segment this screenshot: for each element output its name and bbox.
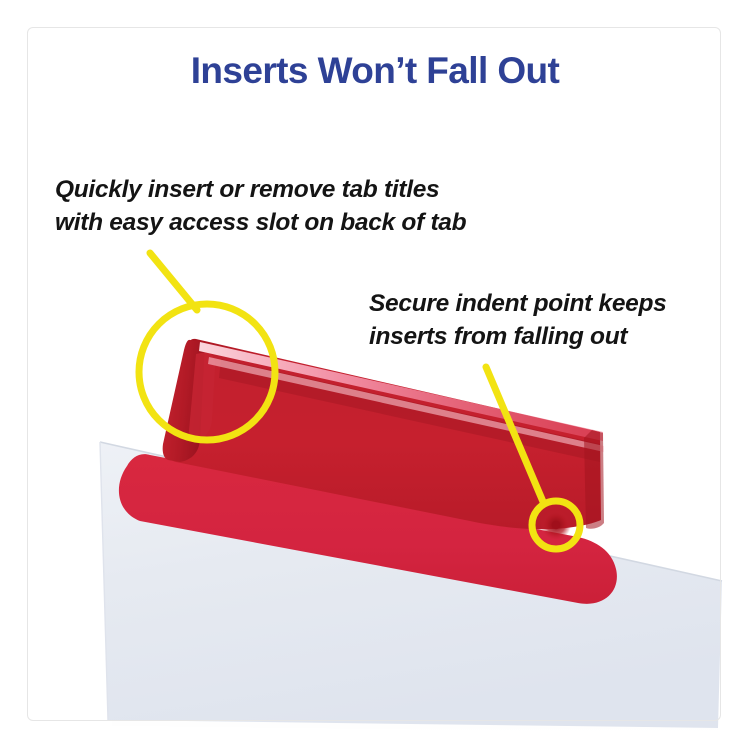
right-annotation-circle	[532, 501, 580, 549]
callout-easy-access-slot-line1: Quickly insert or remove tab titles	[55, 174, 466, 207]
left-annotation-circle	[139, 304, 275, 440]
annotation-overlay	[0, 0, 750, 750]
callout-easy-access-slot-line2: with easy access slot on back of tab	[55, 207, 466, 240]
callout-easy-access-slot: Quickly insert or remove tab titles with…	[55, 174, 466, 239]
page-title: Inserts Won’t Fall Out	[0, 50, 750, 91]
callout-secure-indent-point-line1: Secure indent point keeps	[369, 288, 666, 321]
callout-secure-indent-point: Secure indent point keeps inserts from f…	[369, 288, 666, 353]
infographic-canvas: Inserts Won’t Fall Out Quickly insert or…	[0, 0, 750, 750]
left-annotation-leader-line	[150, 253, 197, 310]
right-annotation-leader-line	[486, 367, 544, 504]
callout-secure-indent-point-line2: inserts from falling out	[369, 321, 666, 354]
